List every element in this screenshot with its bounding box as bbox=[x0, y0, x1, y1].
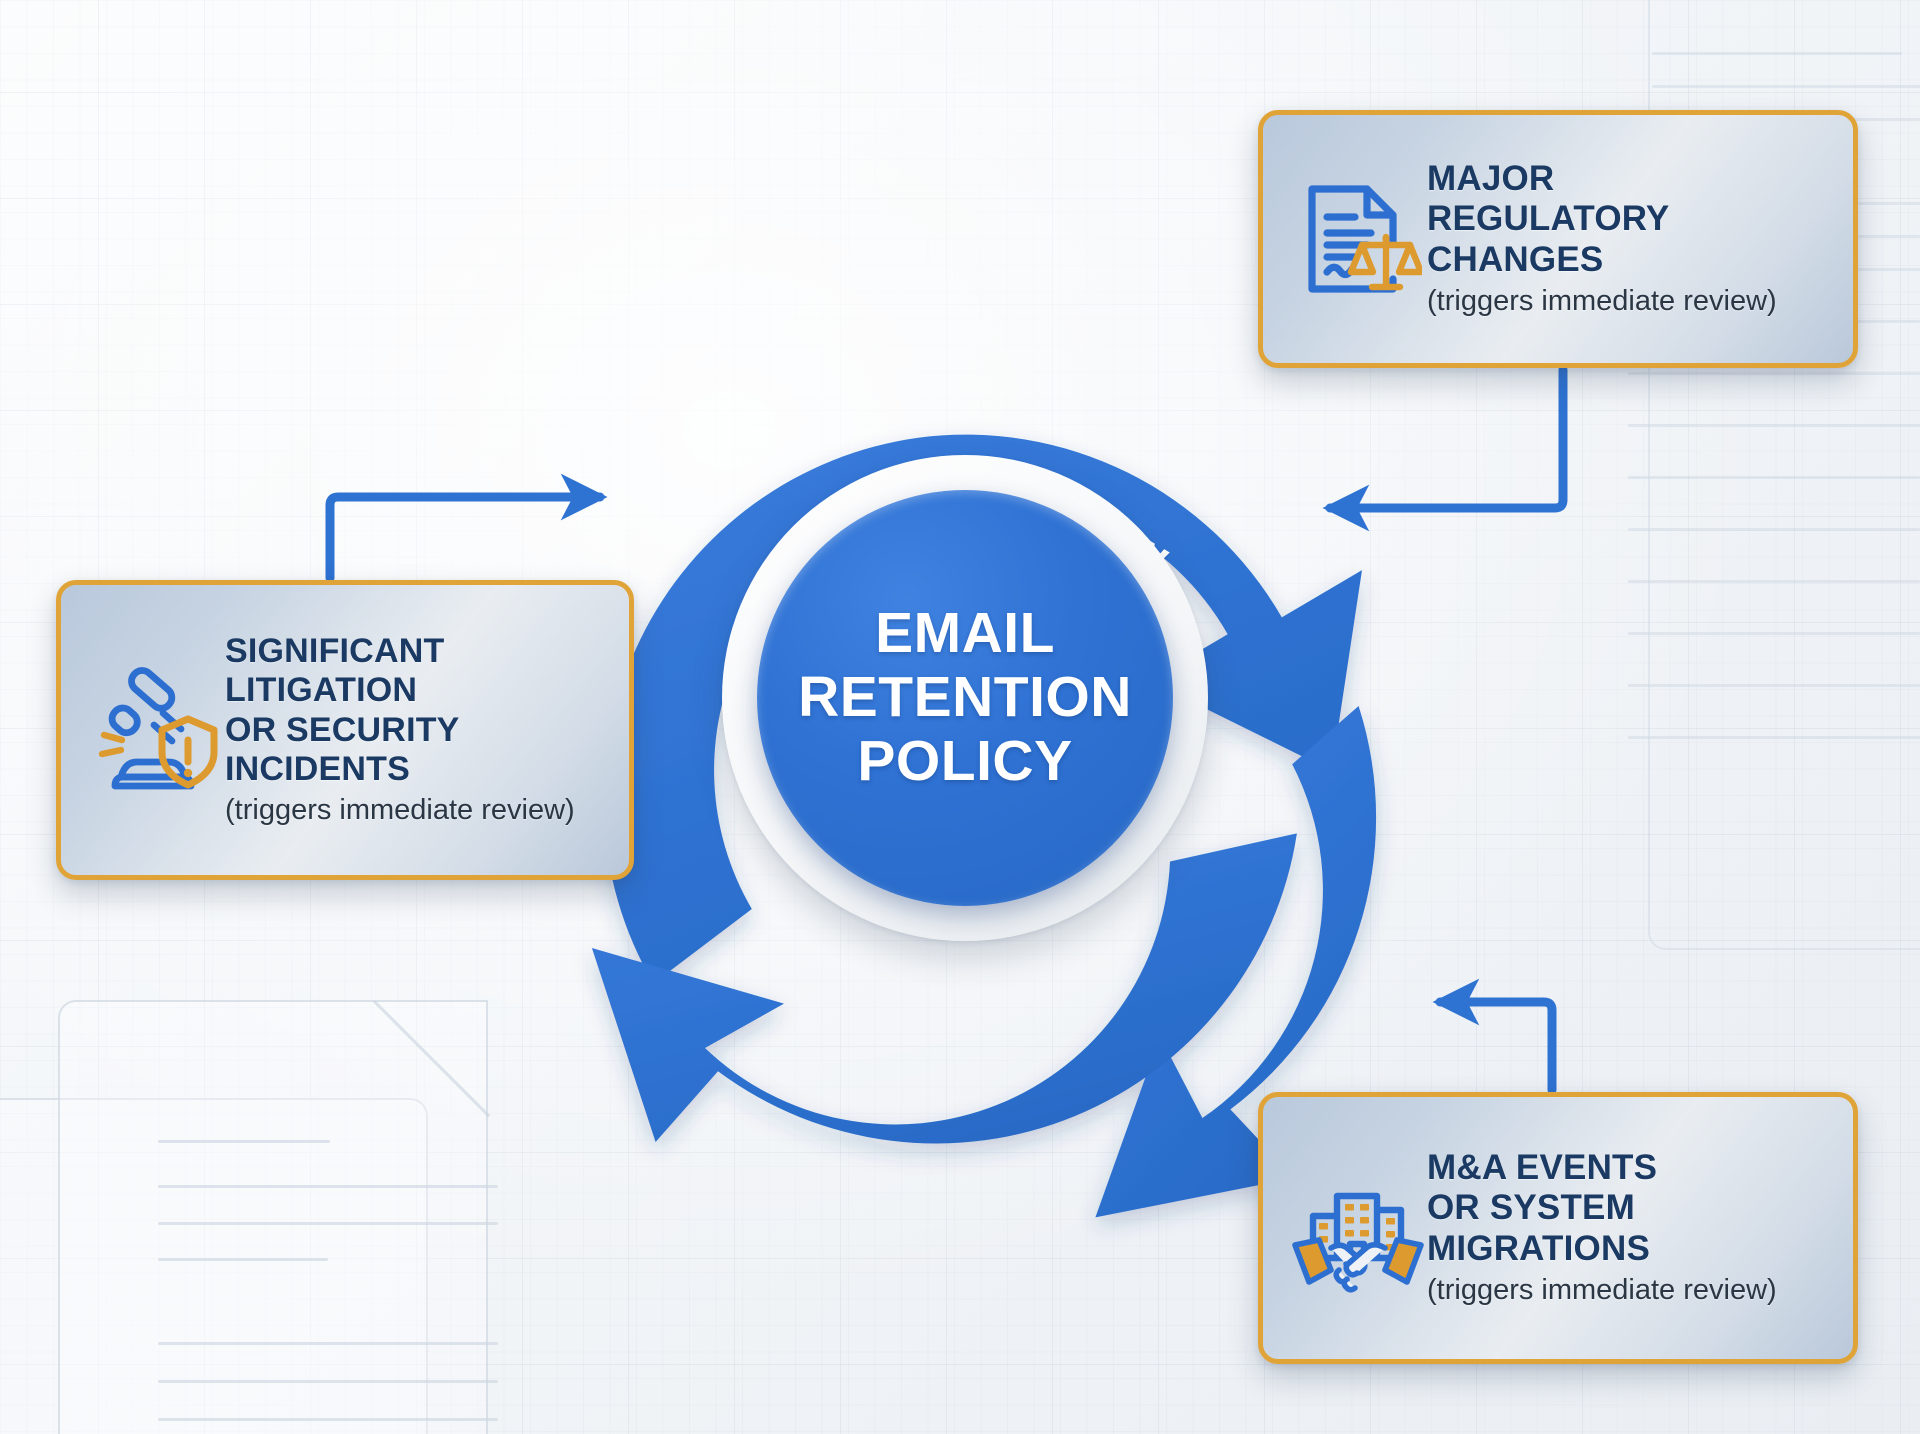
handshake-buildings-icon bbox=[1289, 1162, 1427, 1294]
card-title-line: CHANGES bbox=[1427, 240, 1827, 281]
card-title-line: M&A EVENTS bbox=[1427, 1148, 1827, 1189]
diagram-canvas: ANNUAL REVIEW EMAIL RETENTION POLICY bbox=[0, 0, 1920, 1434]
card-title-line: MIGRATIONS bbox=[1427, 1229, 1827, 1270]
card-significant-litigation[interactable]: SIGNIFICANT LITIGATION OR SECURITY INCID… bbox=[56, 580, 634, 880]
card-text-ma: M&A EVENTS OR SYSTEM MIGRATIONS (trigger… bbox=[1427, 1148, 1827, 1309]
card-subtitle-ma: (triggers immediate review) bbox=[1427, 1273, 1827, 1308]
card-title-line: LITIGATION bbox=[225, 671, 603, 710]
card-title-line: REGULATORY bbox=[1427, 199, 1827, 240]
card-title-line: SIGNIFICANT bbox=[225, 632, 603, 671]
card-title-line: MAJOR bbox=[1427, 159, 1827, 200]
hub-circle: EMAIL RETENTION POLICY bbox=[757, 490, 1173, 906]
card-title-line: INCIDENTS bbox=[225, 750, 603, 789]
card-title-litigation: SIGNIFICANT LITIGATION OR SECURITY INCID… bbox=[225, 632, 603, 790]
hub-title-line-2: RETENTION bbox=[798, 666, 1132, 730]
card-title-ma: M&A EVENTS OR SYSTEM MIGRATIONS bbox=[1427, 1148, 1827, 1270]
card-title-line: OR SYSTEM bbox=[1427, 1188, 1827, 1229]
hub-title: EMAIL RETENTION POLICY bbox=[798, 602, 1132, 793]
card-subtitle-regulatory: (triggers immediate review) bbox=[1427, 284, 1827, 319]
card-text-regulatory: MAJOR REGULATORY CHANGES (triggers immed… bbox=[1427, 159, 1827, 320]
hub-title-line-1: EMAIL bbox=[798, 602, 1132, 666]
hub-title-line-3: POLICY bbox=[798, 730, 1132, 794]
card-title-regulatory: MAJOR REGULATORY CHANGES bbox=[1427, 159, 1827, 281]
card-text-litigation: SIGNIFICANT LITIGATION OR SECURITY INCID… bbox=[225, 632, 603, 829]
card-ma-events[interactable]: M&A EVENTS OR SYSTEM MIGRATIONS (trigger… bbox=[1258, 1092, 1858, 1364]
card-title-line: OR SECURITY bbox=[225, 711, 603, 750]
document-scales-icon bbox=[1289, 175, 1427, 303]
card-subtitle-litigation: (triggers immediate review) bbox=[225, 793, 603, 828]
gavel-alert-shield-icon bbox=[87, 665, 225, 795]
card-major-regulatory-changes[interactable]: MAJOR REGULATORY CHANGES (triggers immed… bbox=[1258, 110, 1858, 368]
